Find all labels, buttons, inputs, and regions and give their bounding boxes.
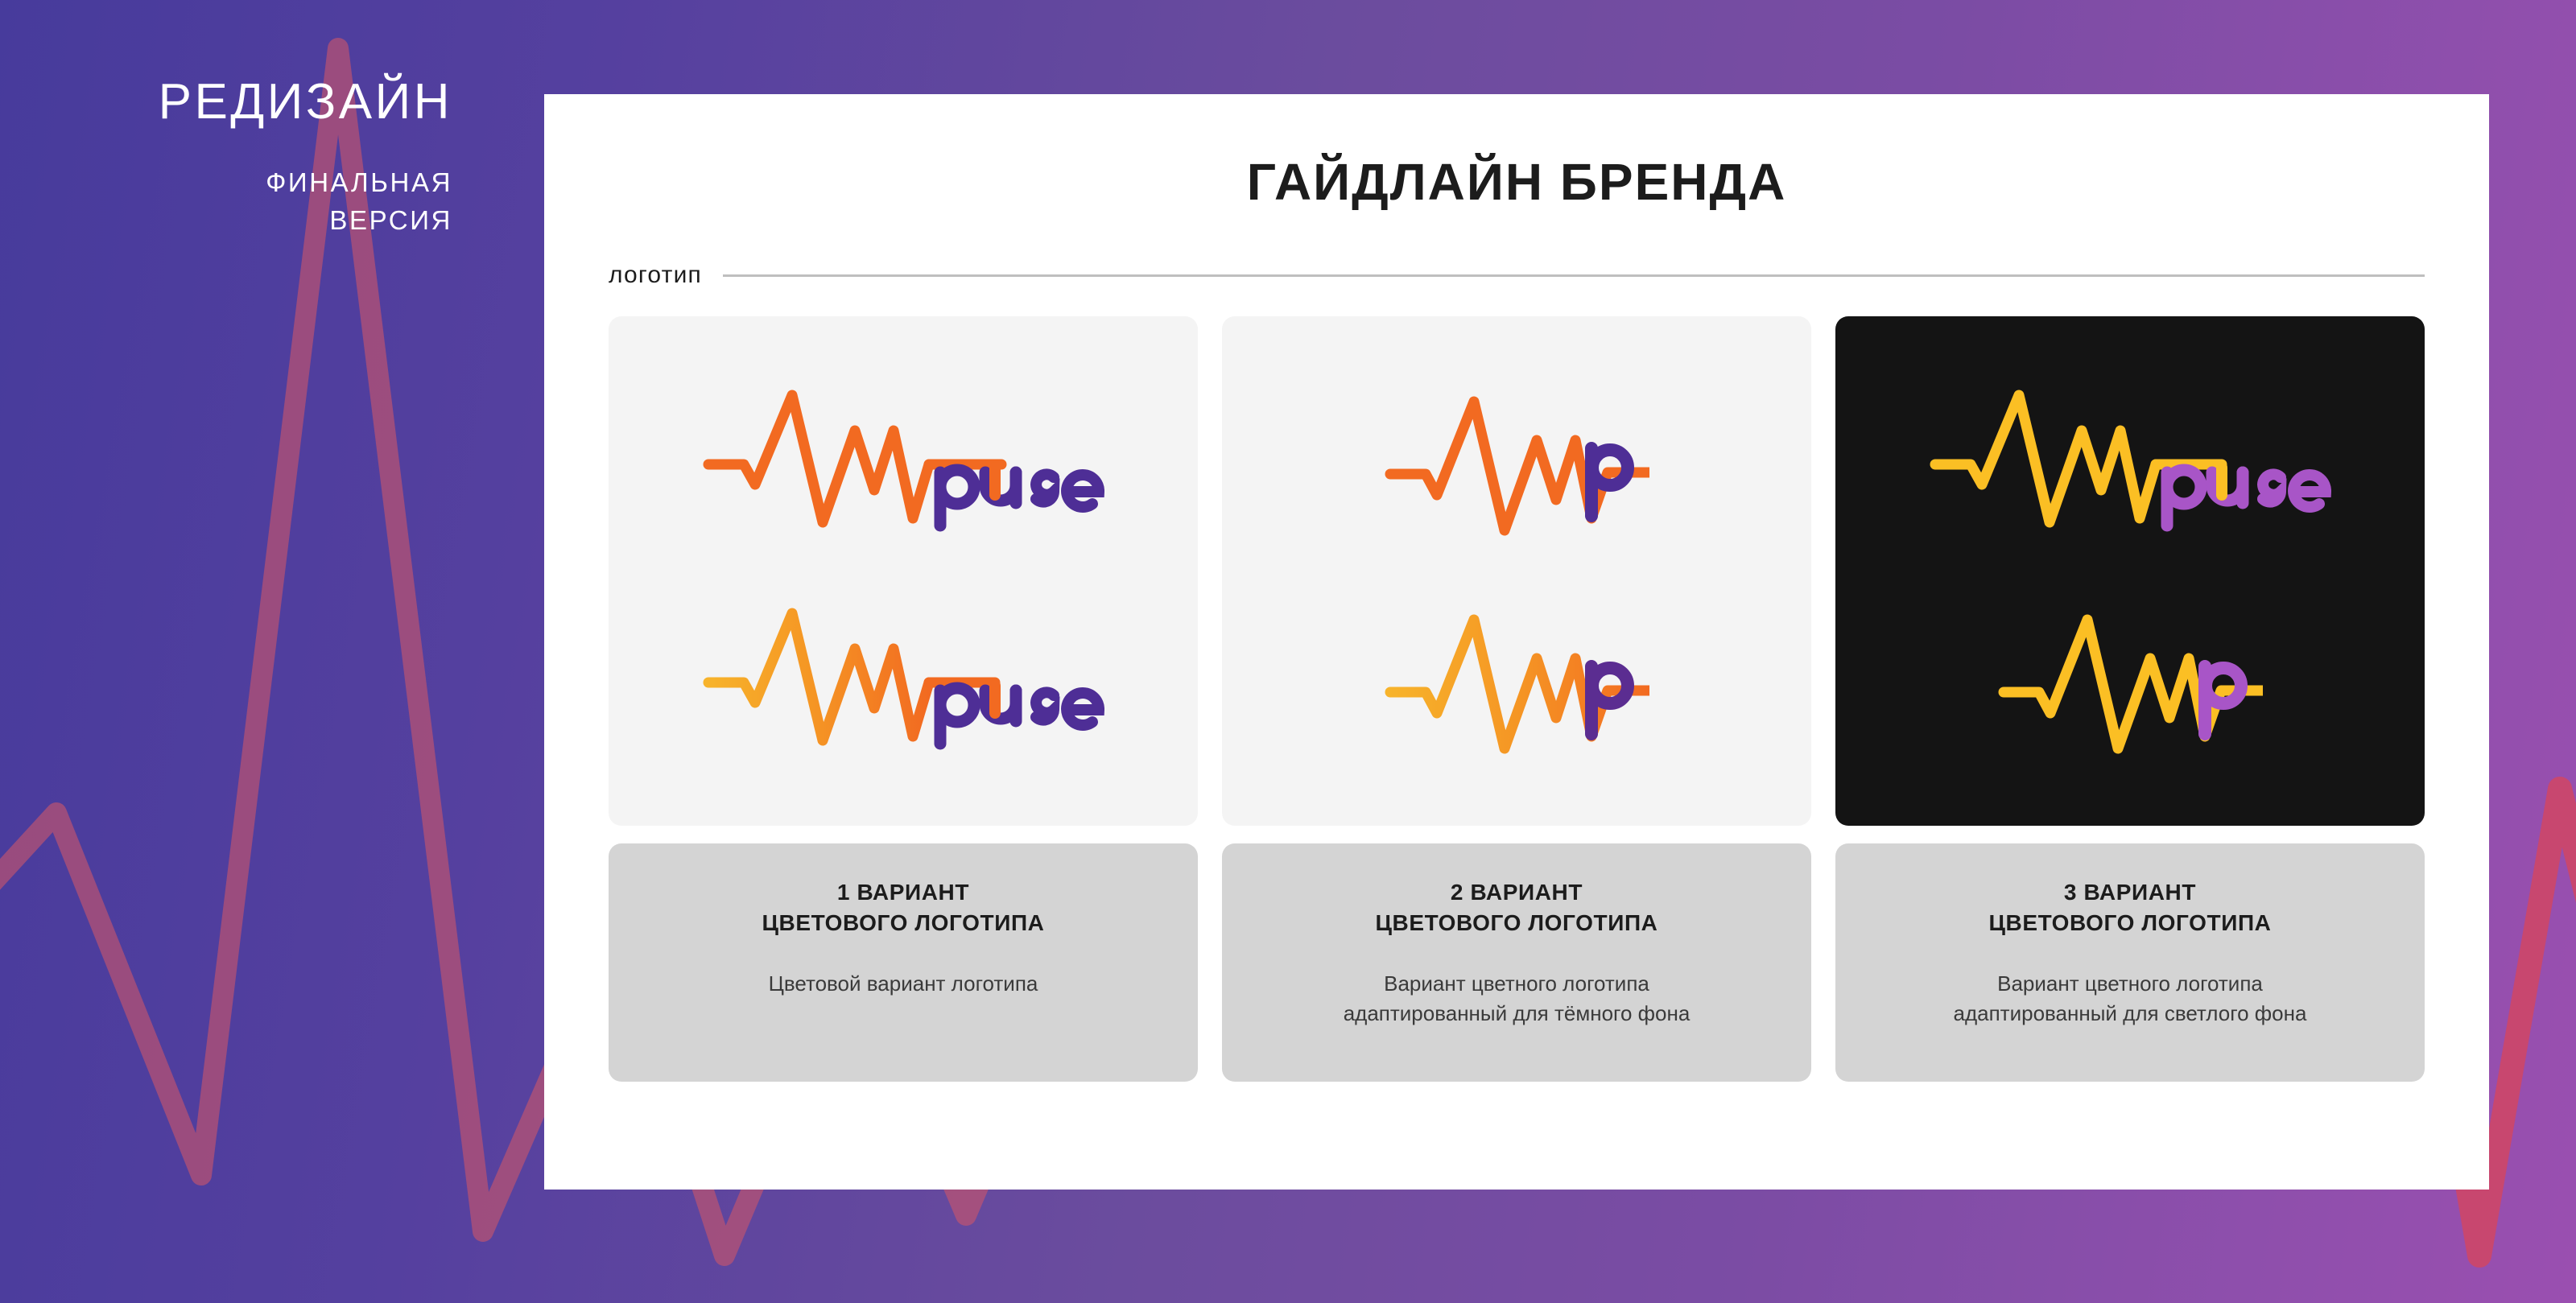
caption-description: Вариант цветного логотипа адаптированный… [1868, 969, 2392, 1029]
caption-card-variant-1: 1 ВАРИАНТ ЦВЕТОВОГО ЛОГОТИПА Цветовой ва… [609, 843, 1198, 1082]
slide-left-column: РЕДИЗАЙН ФИНАЛЬНАЯ ВЕРСИЯ [0, 0, 515, 1303]
logo-card-variant-3[interactable] [1835, 316, 2425, 826]
logo-card-variant-2[interactable] [1222, 316, 1811, 826]
subtitle-line-1: ФИНАЛЬНАЯ [0, 164, 452, 202]
content-panel: ГАЙДЛАЙН БРЕНДА ЛОГОТИП [544, 94, 2489, 1190]
logo-slot-top [633, 377, 1174, 546]
section-divider [723, 274, 2425, 277]
caption-title: 2 ВАРИАНТ ЦВЕТОВОГО ЛОГОТИПА [1254, 877, 1779, 938]
logo-card-variant-1[interactable] [609, 316, 1198, 826]
logo-slot-top [1246, 377, 1787, 546]
caption-title: 1 ВАРИАНТ ЦВЕТОВОГО ЛОГОТИПА [641, 877, 1166, 938]
pulse-monogram-dark-icon [1997, 596, 2263, 765]
subtitle-line-2: ВЕРСИЯ [0, 202, 452, 240]
section-label-logotype: ЛОГОТИП [609, 262, 702, 289]
slide-subtitle: ФИНАЛЬНАЯ ВЕРСИЯ [0, 164, 452, 240]
logo-variants-grid [609, 316, 2425, 826]
logo-slot-bottom [1246, 596, 1787, 765]
pulse-monogram-gradient-icon [1384, 596, 1649, 765]
page-title: ГАЙДЛАЙН БРЕНДА [609, 94, 2425, 212]
pulse-logo-full-gradient-icon [702, 596, 1104, 765]
pulse-logo-full-orange-icon [702, 377, 1104, 546]
logo-slot-bottom [633, 596, 1174, 765]
logo-captions-grid: 1 ВАРИАНТ ЦВЕТОВОГО ЛОГОТИПА Цветовой ва… [609, 843, 2425, 1082]
logo-slot-bottom [1860, 596, 2401, 765]
caption-description: Цветовой вариант логотипа [641, 969, 1166, 999]
caption-title: 3 ВАРИАНТ ЦВЕТОВОГО ЛОГОТИПА [1868, 877, 2392, 938]
redesign-title: РЕДИЗАЙН [0, 77, 452, 127]
section-header: ЛОГОТИП [609, 262, 2425, 289]
logo-slot-top [1860, 377, 2401, 546]
caption-card-variant-2: 2 ВАРИАНТ ЦВЕТОВОГО ЛОГОТИПА Вариант цве… [1222, 843, 1811, 1082]
pulse-monogram-orange-icon [1384, 377, 1649, 546]
caption-description: Вариант цветного логотипа адаптированный… [1254, 969, 1779, 1029]
pulse-logo-full-dark-icon [1929, 377, 2331, 546]
caption-card-variant-3: 3 ВАРИАНТ ЦВЕТОВОГО ЛОГОТИПА Вариант цве… [1835, 843, 2425, 1082]
